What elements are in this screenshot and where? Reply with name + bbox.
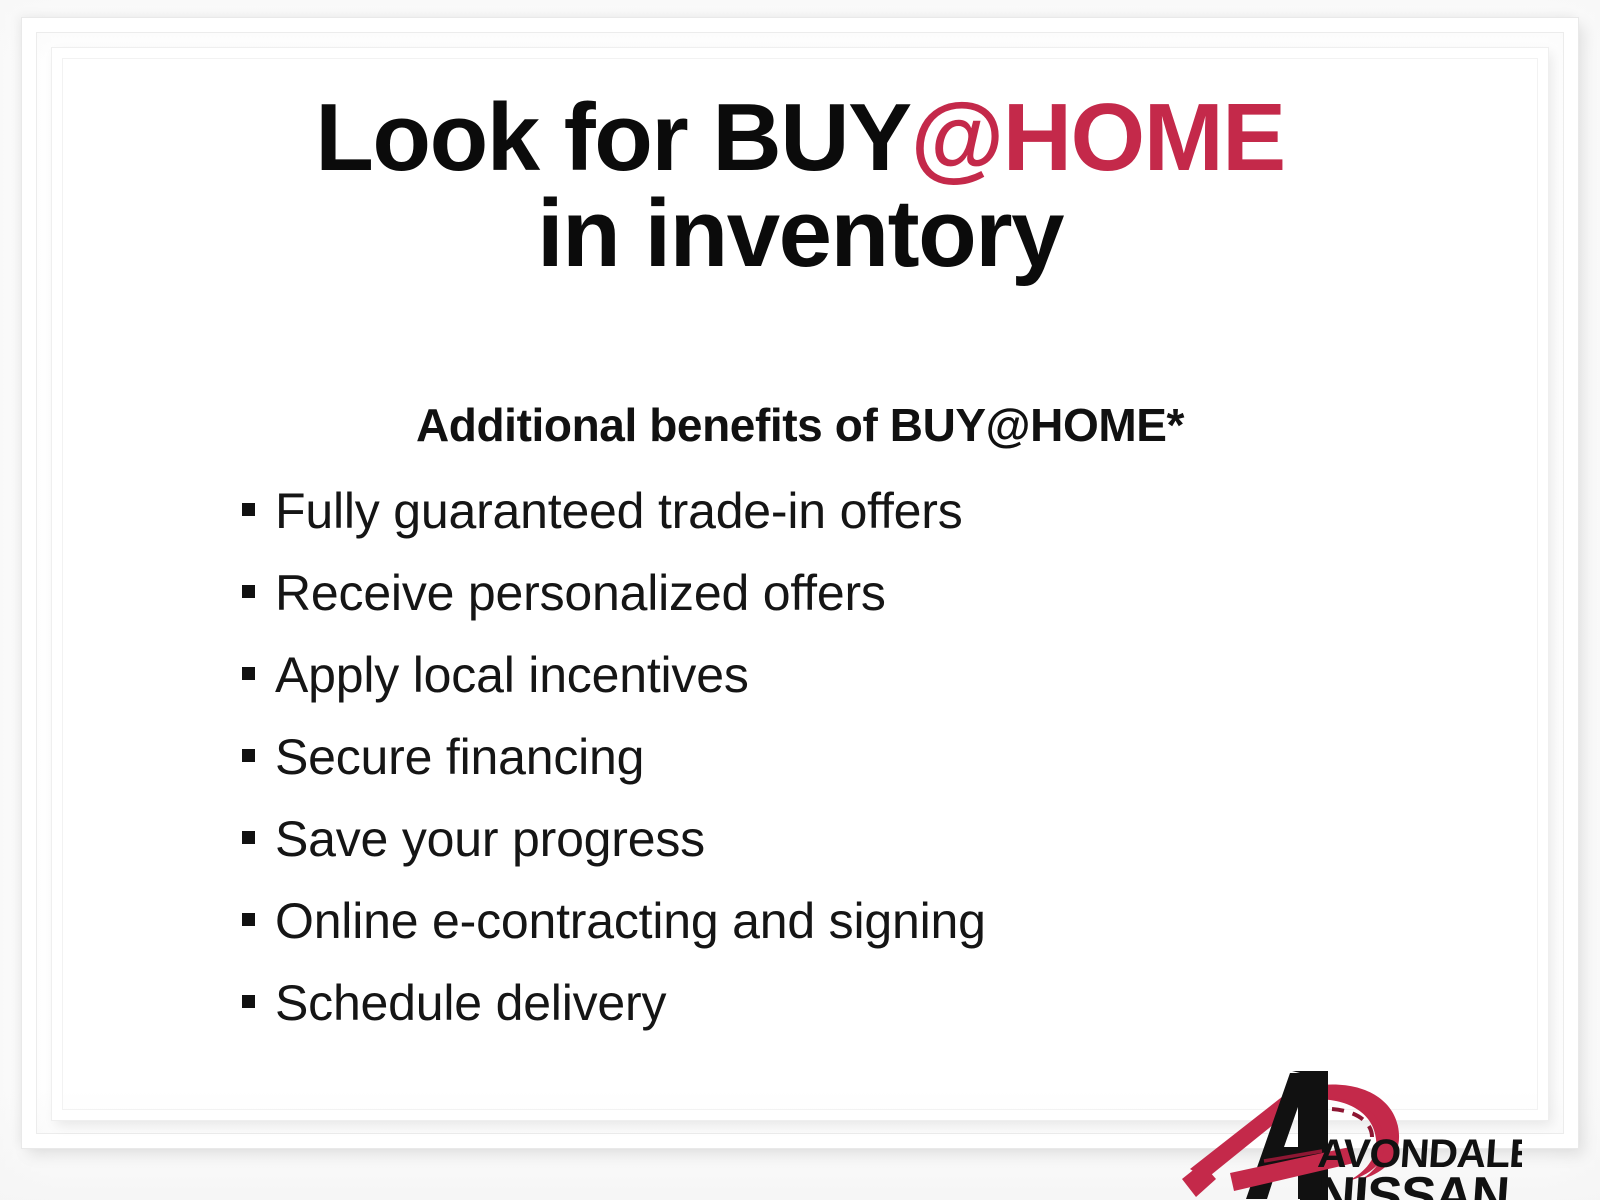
square-bullet-icon (242, 503, 255, 516)
list-item: Secure financing (242, 732, 1530, 814)
headline-line1-accent: @HOME (911, 84, 1285, 191)
list-item-label: Secure financing (275, 732, 644, 782)
list-item: Save your progress (242, 814, 1530, 896)
benefits-list: Fully guaranteed trade-in offers Receive… (70, 452, 1530, 1060)
promo-slide: Look for BUY@HOME in inventory Additiona… (0, 0, 1600, 1200)
list-item-label: Schedule delivery (275, 978, 666, 1028)
list-item-label: Save your progress (275, 814, 705, 864)
square-bullet-icon (242, 749, 255, 762)
list-item: Schedule delivery (242, 978, 1530, 1060)
list-item: Online e-contracting and signing (242, 896, 1530, 978)
headline-line1-black: Look for BUY (315, 84, 910, 191)
headline-line2: in inventory (70, 188, 1530, 280)
logo-nissan-text: NISSAN (1315, 1167, 1510, 1200)
square-bullet-icon (242, 913, 255, 926)
list-item-label: Fully guaranteed trade-in offers (275, 486, 963, 536)
list-item: Apply local incentives (242, 650, 1530, 732)
avondale-nissan-logo: AVONDALE NISSAN (1172, 1051, 1522, 1200)
list-item-label: Receive personalized offers (275, 568, 886, 618)
square-bullet-icon (242, 831, 255, 844)
square-bullet-icon (242, 995, 255, 1008)
list-item-label: Apply local incentives (275, 650, 749, 700)
list-item: Receive personalized offers (242, 568, 1530, 650)
square-bullet-icon (242, 585, 255, 598)
slide-content: Look for BUY@HOME in inventory Additiona… (70, 66, 1530, 1104)
subheading: Additional benefits of BUY@HOME* (70, 280, 1530, 452)
list-item-label: Online e-contracting and signing (275, 896, 986, 946)
page-title: Look for BUY@HOME in inventory (70, 66, 1530, 280)
square-bullet-icon (242, 667, 255, 680)
list-item: Fully guaranteed trade-in offers (242, 486, 1530, 568)
